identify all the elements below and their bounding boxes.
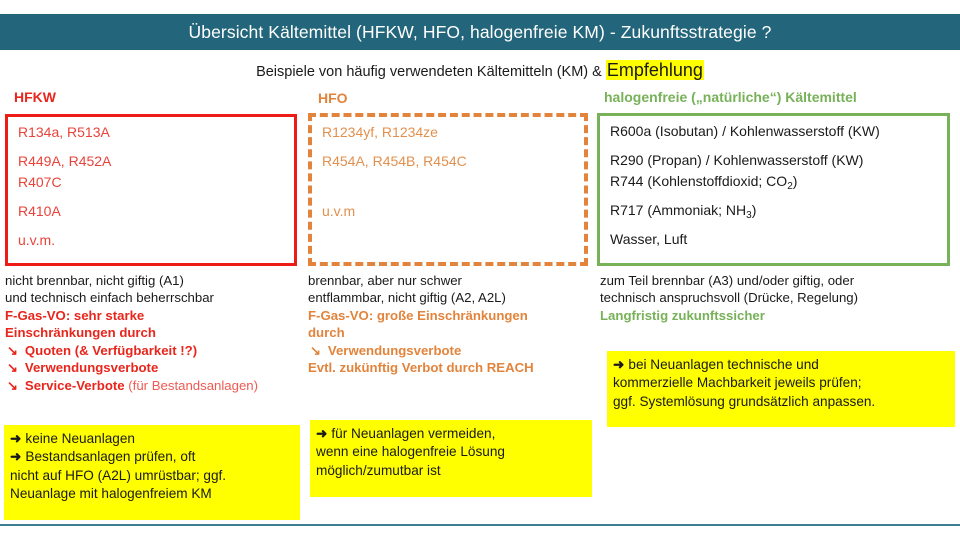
bullet-item: ↘ Verwendungsverbote bbox=[5, 359, 305, 376]
column-header-hfo: HFO bbox=[318, 90, 348, 106]
list-item: R449A, R452A bbox=[18, 154, 111, 169]
note-line: zum Teil brennbar (A3) und/oder giftig, … bbox=[600, 272, 955, 289]
callout-line: ggf. Systemlösung grundsätzlich anpassen… bbox=[613, 393, 947, 411]
bullet-label: Service-Verbote (für Bestandsanlagen) bbox=[25, 377, 258, 394]
note-line: und technisch einfach beherrschbar bbox=[5, 289, 305, 306]
callout-line: Neuanlage mit halogenfreiem KM bbox=[10, 485, 292, 503]
callout-line: kommerzielle Machbarkeit jeweils prüfen; bbox=[613, 374, 947, 392]
bullet-label-main: Service-Verbote bbox=[25, 378, 125, 393]
list-item: R134a, R513A bbox=[18, 125, 110, 140]
callout-text: bei Neuanlagen technische und bbox=[628, 357, 818, 372]
subtitle-plain-text: Beispiele von häufig verwendeten Kältemi… bbox=[256, 64, 606, 80]
note-line: brennbar, aber nur schwer bbox=[308, 272, 593, 289]
notes-hfo: brennbar, aber nur schwer entflammbar, n… bbox=[308, 272, 593, 377]
arrow-southeast-icon: ↘ bbox=[7, 377, 18, 394]
note-emphasis-line: Einschränkungen durch bbox=[5, 324, 305, 341]
bottom-divider bbox=[0, 524, 960, 526]
list-item-main: R290 (Propan) / Kohlenwasserstoff (KW) bbox=[610, 152, 863, 168]
refrigerant-box-halogenfreie: R600a (Isobutan) / Kohlenwasserstoff (KW… bbox=[597, 113, 950, 266]
note-line: technisch anspruchsvoll (Drücke, Regelun… bbox=[600, 289, 955, 306]
refrigerant-box-hfo: R1234yf, R1234ze R454A, R454B, R454C u.v… bbox=[308, 113, 588, 266]
callout-line: ➜Bestandsanlagen prüfen, oft bbox=[10, 448, 292, 466]
list-item: R1234yf, R1234ze bbox=[322, 125, 438, 140]
arrow-right-icon: ➜ bbox=[613, 357, 628, 372]
note-line: entflammbar, nicht giftig (A2, A2L) bbox=[308, 289, 593, 306]
callout-text: für Neuanlagen vermeiden, bbox=[331, 426, 495, 441]
note-emphasis-line: F-Gas-VO: sehr starke bbox=[5, 307, 305, 324]
list-item-tail: ) bbox=[793, 173, 798, 189]
arrow-southeast-icon: ↘ bbox=[310, 342, 321, 359]
list-item: R407C bbox=[18, 175, 62, 190]
callout-line: ➜bei Neuanlagen technische und bbox=[613, 356, 947, 374]
callout-hfo: ➜für Neuanlagen vermeiden, wenn eine hal… bbox=[310, 420, 592, 497]
callout-halogenfreie: ➜bei Neuanlagen technische und kommerzie… bbox=[607, 351, 955, 427]
list-item: R454A, R454B, R454C bbox=[322, 154, 467, 169]
list-item: R717 (Ammoniak; NH3) bbox=[610, 203, 756, 218]
bullet-label-suffix: (für Bestandsanlagen) bbox=[125, 378, 258, 393]
list-item-subscript: 3 bbox=[746, 210, 752, 221]
notes-halogenfreie: zum Teil brennbar (A3) und/oder giftig, … bbox=[600, 272, 955, 324]
list-item: R290 (Propan) / Kohlenwasserstoff (KW) bbox=[610, 153, 863, 168]
list-item-main: Wasser, Luft bbox=[610, 231, 687, 247]
arrow-southeast-icon: ↘ bbox=[7, 342, 18, 359]
column-header-hfkw: HFKW bbox=[14, 89, 56, 105]
list-item-tail: ) bbox=[752, 202, 757, 218]
callout-line: möglich/zumutbar ist bbox=[316, 462, 584, 480]
refrigerant-box-hfkw: R134a, R513A R449A, R452A R407C R410A u.… bbox=[5, 114, 297, 266]
arrow-right-icon: ➜ bbox=[316, 426, 331, 441]
callout-line: nicht auf HFO (A2L) umrüstbar; ggf. bbox=[10, 467, 292, 485]
column-header-halogenfreie: halogenfreie („natürliche“) Kältemittel bbox=[604, 89, 857, 105]
subtitle: Beispiele von häufig verwendeten Kältemi… bbox=[0, 60, 960, 81]
callout-text: Bestandsanlagen prüfen, oft bbox=[25, 449, 195, 464]
list-item: R410A bbox=[18, 204, 61, 219]
bullet-item: ↘ Quoten (& Verfügbarkeit !?) bbox=[5, 342, 305, 359]
bullet-label: Verwendungsverbote bbox=[328, 342, 461, 359]
callout-hfkw: ➜keine Neuanlagen ➜Bestandsanlagen prüfe… bbox=[4, 425, 300, 520]
subtitle-highlight-empfehlung: Empfehlung bbox=[606, 60, 704, 80]
list-item: R600a (Isobutan) / Kohlenwasserstoff (KW… bbox=[610, 124, 880, 139]
notes-hfkw: nicht brennbar, nicht giftig (A1) und te… bbox=[5, 272, 305, 394]
note-emphasis-line: Evtl. zukünftig Verbot durch REACH bbox=[308, 359, 593, 376]
callout-text: keine Neuanlagen bbox=[25, 431, 135, 446]
note-emphasis-line: durch bbox=[308, 324, 593, 341]
arrow-right-icon: ➜ bbox=[10, 449, 25, 464]
arrow-right-icon: ➜ bbox=[10, 431, 25, 446]
callout-line: ➜für Neuanlagen vermeiden, bbox=[316, 425, 584, 443]
list-item: u.v.m bbox=[322, 204, 355, 219]
callout-line: ➜keine Neuanlagen bbox=[10, 430, 292, 448]
bullet-label: Verwendungsverbote bbox=[25, 359, 158, 376]
list-item: Wasser, Luft bbox=[610, 232, 687, 247]
note-emphasis-line: Langfristig zukunftssicher bbox=[600, 307, 955, 324]
list-item-subscript: 2 bbox=[787, 181, 793, 192]
callout-line: wenn eine halogenfreie Lösung bbox=[316, 443, 584, 461]
bullet-item: ↘ Verwendungsverbote bbox=[308, 342, 593, 359]
list-item-main: R600a (Isobutan) / Kohlenwasserstoff (KW… bbox=[610, 123, 880, 139]
note-emphasis-line: F-Gas-VO: große Einschränkungen bbox=[308, 307, 593, 324]
list-item: u.v.m. bbox=[18, 233, 55, 248]
note-line: nicht brennbar, nicht giftig (A1) bbox=[5, 272, 305, 289]
bullet-label: Quoten (& Verfügbarkeit !?) bbox=[25, 342, 197, 359]
bullet-item: ↘ Service-Verbote (für Bestandsanlagen) bbox=[5, 377, 305, 394]
arrow-southeast-icon: ↘ bbox=[7, 359, 18, 376]
list-item-main: R717 (Ammoniak; NH bbox=[610, 202, 746, 218]
slide-title-bar: Übersicht Kältemittel (HFKW, HFO, haloge… bbox=[0, 14, 960, 50]
list-item-main: R744 (Kohlenstoffdioxid; CO bbox=[610, 173, 787, 189]
page-title: Übersicht Kältemittel (HFKW, HFO, haloge… bbox=[189, 22, 772, 43]
list-item: R744 (Kohlenstoffdioxid; CO2) bbox=[610, 174, 797, 189]
